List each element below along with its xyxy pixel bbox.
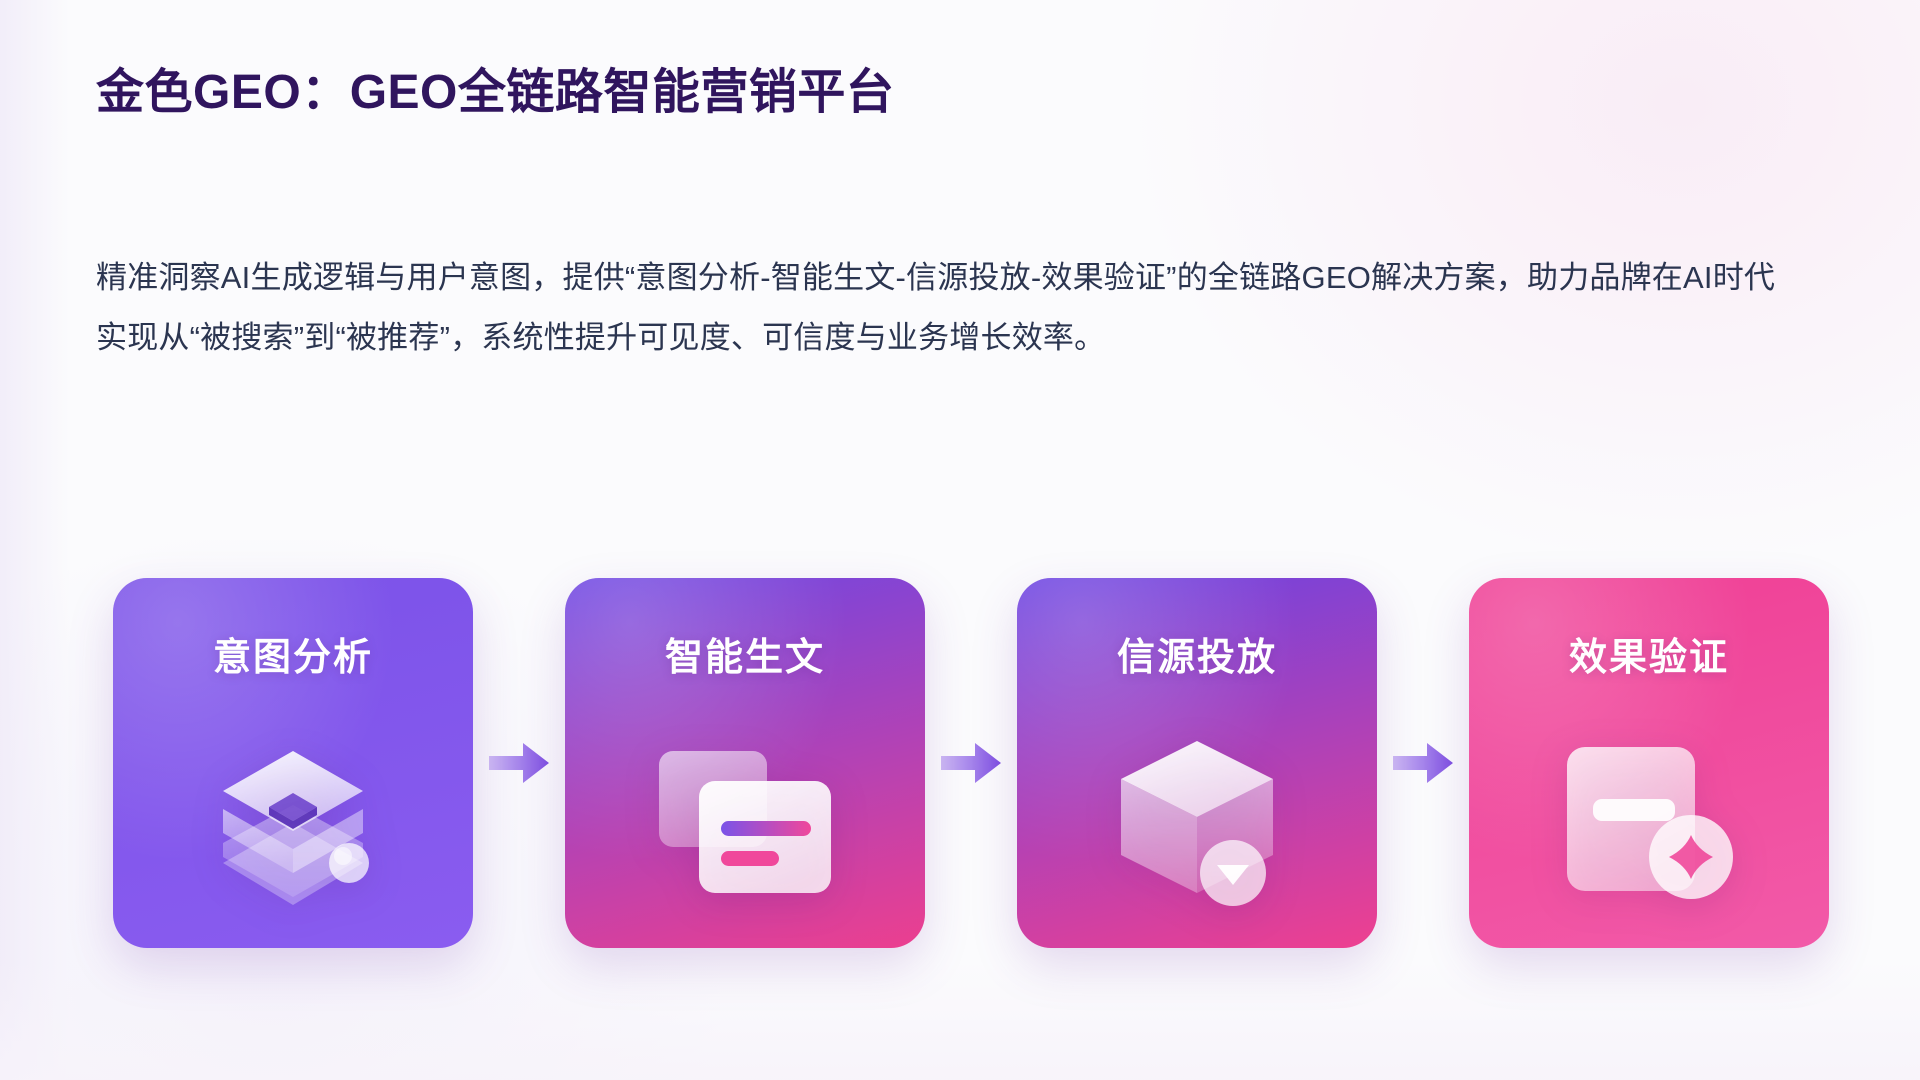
page-title: 金色GEO：GEO全链路智能营销平台 bbox=[96, 52, 894, 122]
flow-step-card-4[interactable]: 效果验证 bbox=[1469, 578, 1829, 948]
open-box-icon bbox=[113, 728, 473, 918]
flow-step-card-2[interactable]: 智能生文 bbox=[565, 578, 925, 948]
flow-step-label-1: 意图分析 bbox=[113, 626, 473, 681]
flow-arrow-3 bbox=[1377, 740, 1469, 786]
background-bottom-tint bbox=[0, 960, 1920, 1080]
arrow-right-icon bbox=[1393, 740, 1453, 786]
flow-step-label-2: 智能生文 bbox=[565, 626, 925, 681]
background-left-tint bbox=[0, 0, 70, 1080]
document-cards-icon bbox=[565, 728, 925, 918]
cube-download-icon bbox=[1017, 728, 1377, 918]
page-description: 精准洞察AI生成逻辑与用户意图，提供“意图分析-智能生文-信源投放-效果验证”的… bbox=[96, 248, 1796, 369]
arrow-right-icon bbox=[941, 740, 1001, 786]
arrow-right-icon bbox=[489, 740, 549, 786]
report-check-icon bbox=[1469, 728, 1829, 918]
flow-step-label-4: 效果验证 bbox=[1469, 626, 1829, 681]
flow-step-card-3[interactable]: 信源投放 bbox=[1017, 578, 1377, 948]
slide-root: 金色GEO：GEO全链路智能营销平台 精准洞察AI生成逻辑与用户意图，提供“意图… bbox=[0, 0, 1920, 1080]
flow-arrow-1 bbox=[473, 740, 565, 786]
process-flow: 意图分析 bbox=[113, 578, 1829, 948]
flow-arrow-2 bbox=[925, 740, 1017, 786]
flow-step-label-3: 信源投放 bbox=[1017, 626, 1377, 681]
flow-step-card-1[interactable]: 意图分析 bbox=[113, 578, 473, 948]
